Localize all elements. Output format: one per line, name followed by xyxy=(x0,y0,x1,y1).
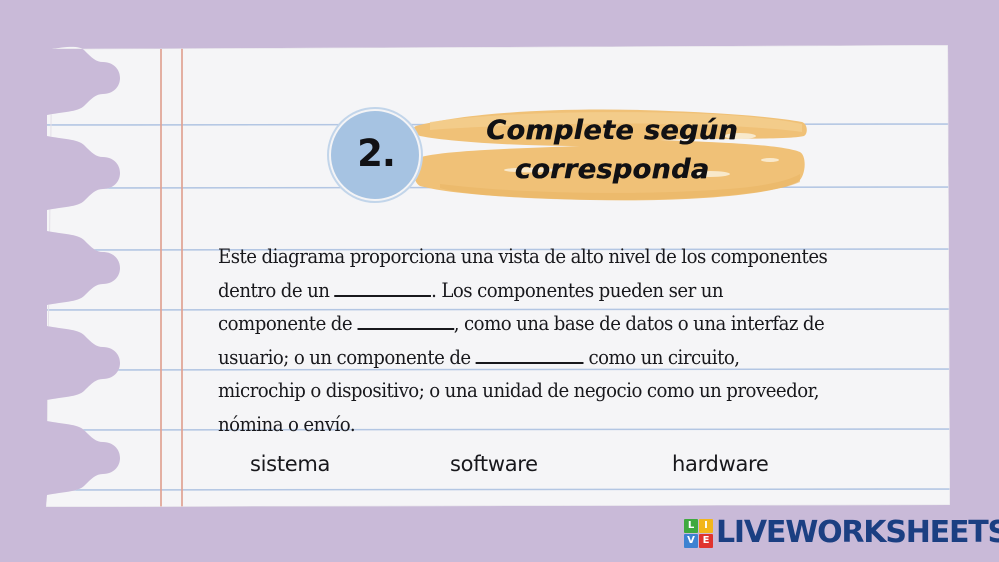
exercise-instruction-text: Este diagrama proporciona una vista de a… xyxy=(218,240,832,441)
liveworksheets-logo[interactable]: L I V E LIVEWORKSHEETS xyxy=(684,518,999,548)
exercise-number-label: 2. xyxy=(357,132,395,175)
exercise-header: 2. Complete según corresponda xyxy=(325,95,825,215)
word-bank-option-software[interactable]: software xyxy=(450,452,672,476)
answer-blank-1[interactable] xyxy=(334,295,431,297)
exercise-number-badge: 2. xyxy=(331,111,419,199)
exercise-title: Complete según corresponda xyxy=(437,111,787,189)
logo-wordmark: LIVEWORKSHEETS xyxy=(716,518,999,548)
logo-tile-v: V xyxy=(684,534,698,548)
word-bank-option-sistema[interactable]: sistema xyxy=(250,452,450,476)
word-bank-option-hardware[interactable]: hardware xyxy=(672,452,872,476)
logo-tile-grid: L I V E xyxy=(684,519,713,548)
logo-tile-e: E xyxy=(699,534,713,548)
answer-blank-3[interactable] xyxy=(476,362,584,364)
logo-tile-l: L xyxy=(684,519,698,533)
word-bank: sistema software hardware xyxy=(250,452,890,476)
worksheet-canvas: 2. Complete según corresponda Este diagr… xyxy=(0,0,999,562)
answer-blank-2[interactable] xyxy=(357,328,454,330)
logo-tile-i: I xyxy=(699,519,713,533)
